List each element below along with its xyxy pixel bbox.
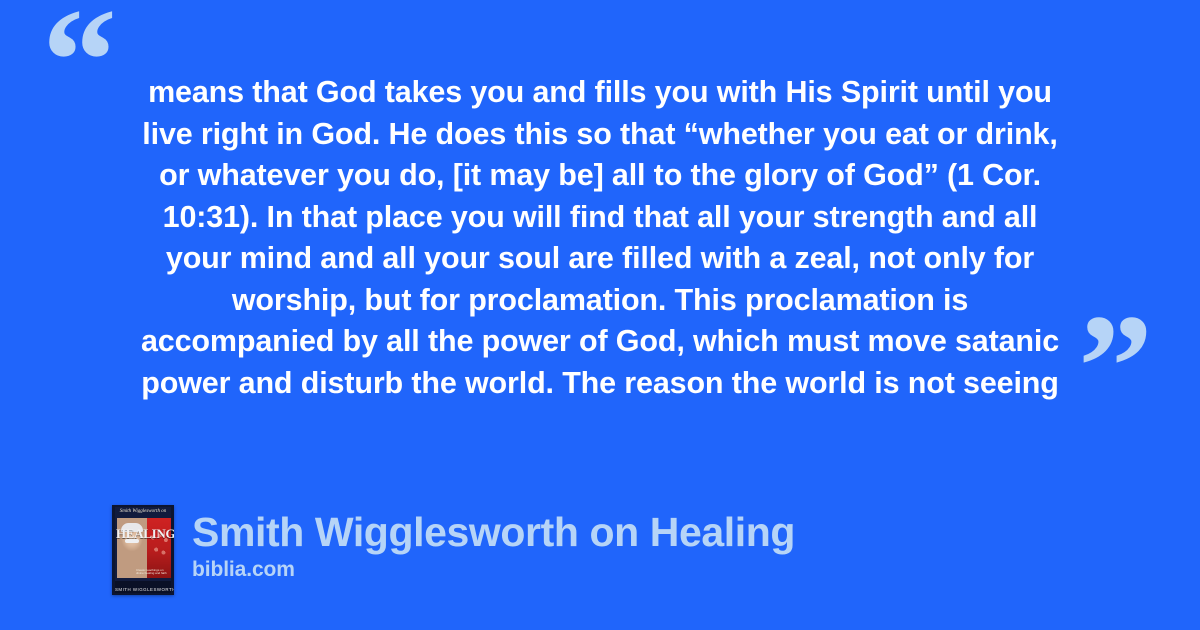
quote-text: means that God takes you and fills you w… [112, 72, 1088, 404]
opening-quote-icon: “ [42, 0, 117, 136]
quote-card: “ means that God takes you and fills you… [0, 0, 1200, 630]
quote-line: 10:31). In that place you will find that… [112, 197, 1088, 239]
attribution-text: Smith Wigglesworth on Healing biblia.com [192, 505, 795, 583]
quote-line: live right in God. He does this so that … [112, 114, 1088, 156]
quote-line: worship, but for proclamation. This proc… [112, 280, 1088, 322]
quote-line: or whatever you do, [it may be] all to t… [112, 155, 1088, 197]
book-title: Smith Wigglesworth on Healing [192, 509, 795, 555]
quote-region: “ means that God takes you and fills you… [0, 0, 1200, 440]
closing-quote-icon: ” [1078, 292, 1153, 442]
book-cover-script-line: Smith Wigglesworth on [117, 508, 169, 516]
quote-line: your mind and all your soul are filled w… [112, 238, 1088, 280]
book-cover-thumbnail: Smith Wigglesworth on HEALING Classic te… [112, 505, 174, 595]
quote-line: means that God takes you and fills you w… [112, 72, 1088, 114]
book-cover-blurb: Classic teachings on divine healing and … [136, 569, 168, 579]
book-cover-title: HEALING [116, 527, 172, 540]
attribution-footer: Smith Wigglesworth on HEALING Classic te… [112, 505, 795, 595]
source-label: biblia.com [192, 557, 795, 583]
quote-line: accompanied by all the power of God, whi… [112, 321, 1088, 363]
book-cover-author: SMITH WIGGLESWORTH [115, 587, 171, 592]
quote-line: power and disturb the world. The reason … [112, 363, 1088, 405]
